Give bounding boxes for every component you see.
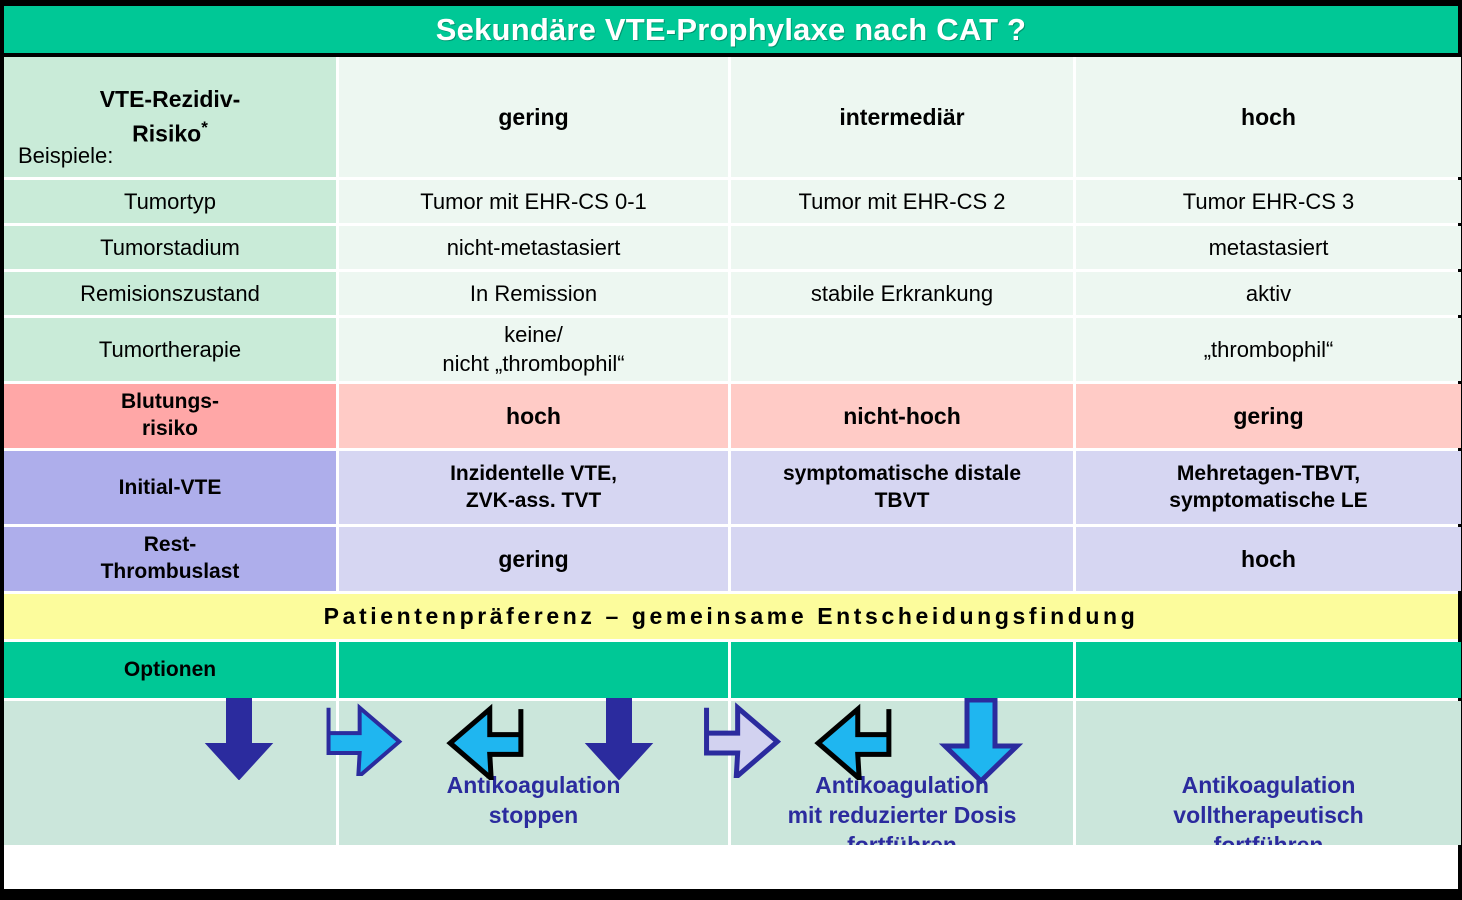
cell-tumortyp-gering: Tumor mit EHR-CS 0-1 bbox=[339, 180, 728, 223]
header-col-gering: gering bbox=[339, 57, 728, 177]
cell-tumortherapie-hoch: „thrombophil“ bbox=[1076, 318, 1461, 381]
cell-initial-vte-gering-line2: ZVK-ass. TVT bbox=[450, 488, 617, 515]
cell-blutungsrisiko-hoch: gering bbox=[1076, 384, 1461, 448]
cell-rest-thrombuslast-gering: gering bbox=[339, 527, 728, 591]
recommendation-intermediaer-line2: mit reduzierter Dosis bbox=[737, 801, 1067, 831]
table-row: Tumortyp Tumor mit EHR-CS 0-1 Tumor mit … bbox=[4, 180, 1458, 223]
recommendation-hoch-line1: Antikoagulation bbox=[1082, 771, 1455, 801]
row-label-optionen: Optionen bbox=[4, 642, 336, 698]
options-band-col1 bbox=[339, 642, 728, 698]
cell-tumorstadium-gering: nicht-metastasiert bbox=[339, 226, 728, 269]
bleeding-risk-row: Blutungs- risiko hoch nicht-hoch gering bbox=[4, 384, 1458, 448]
header-risk-label-line1: VTE-Rezidiv- bbox=[100, 83, 241, 116]
recommendation-gering-line1: Antikoagulation bbox=[345, 771, 722, 801]
recommendations-row: Antikoagulation stoppen Antikoagulation … bbox=[4, 701, 1458, 845]
recommendation-cell-hoch: Antikoagulation volltherapeutisch fortfü… bbox=[1076, 701, 1461, 845]
recommendation-hoch-line2: volltherapeutisch bbox=[1082, 801, 1455, 831]
cell-initial-vte-intermediaer-line2: TBVT bbox=[783, 488, 1021, 515]
cell-tumortherapie-gering-line1: keine/ bbox=[442, 321, 624, 349]
cell-initial-vte-gering: Inzidentelle VTE, ZVK-ass. TVT bbox=[339, 451, 728, 524]
row-label-rest-thrombuslast: Rest- Thrombuslast bbox=[4, 527, 336, 591]
cell-tumortherapie-intermediaer bbox=[731, 318, 1073, 381]
recommendation-cell-gering: Antikoagulation stoppen bbox=[339, 701, 728, 845]
table-row: Tumorstadium nicht-metastasiert metastas… bbox=[4, 226, 1458, 269]
cell-remisionszustand-gering: In Remission bbox=[339, 272, 728, 315]
table-row: Remisionszustand In Remission stabile Er… bbox=[4, 272, 1458, 315]
patient-preference-banner: Patientenpräferenz – gemeinsame Entschei… bbox=[4, 594, 1458, 639]
recommendation-gering-line2: stoppen bbox=[345, 801, 722, 831]
residual-thrombus-row: Rest- Thrombuslast gering hoch bbox=[4, 527, 1458, 591]
cell-initial-vte-intermediaer: symptomatische distale TBVT bbox=[731, 451, 1073, 524]
recommendation-intermediaer-line1: Antikoagulation bbox=[737, 771, 1067, 801]
cell-tumortyp-hoch: Tumor EHR-CS 3 bbox=[1076, 180, 1461, 223]
row-label-blutungsrisiko-line1: Blutungs- bbox=[121, 389, 219, 416]
options-band-col3 bbox=[1076, 642, 1461, 698]
header-risk-label-cell: VTE-Rezidiv- Risiko* Beispiele: bbox=[4, 57, 336, 177]
row-label-tumortyp: Tumortyp bbox=[4, 180, 336, 223]
slide-canvas: Sekundäre VTE-Prophylaxe nach CAT ? VTE-… bbox=[0, 0, 1462, 900]
row-label-rest-thrombuslast-line2: Thrombuslast bbox=[101, 559, 240, 586]
table-header-row: VTE-Rezidiv- Risiko* Beispiele: gering i… bbox=[4, 57, 1458, 177]
recommendation-empty-label-cell bbox=[4, 701, 336, 845]
cell-remisionszustand-hoch: aktiv bbox=[1076, 272, 1461, 315]
recommendation-intermediaer-line3: fortführen bbox=[737, 831, 1067, 845]
cell-initial-vte-hoch-line2: symptomatische LE bbox=[1169, 488, 1367, 515]
cell-remisionszustand-intermediaer: stabile Erkrankung bbox=[731, 272, 1073, 315]
cell-blutungsrisiko-intermediaer: nicht-hoch bbox=[731, 384, 1073, 448]
patient-preference-row: Patientenpräferenz – gemeinsame Entschei… bbox=[4, 594, 1458, 639]
row-label-blutungsrisiko-line2: risiko bbox=[121, 416, 219, 443]
cell-initial-vte-hoch-line1: Mehretagen-TBVT, bbox=[1169, 461, 1367, 488]
risk-matrix-table: VTE-Rezidiv- Risiko* Beispiele: gering i… bbox=[4, 57, 1458, 889]
row-label-rest-thrombuslast-line1: Rest- bbox=[101, 532, 240, 559]
cell-blutungsrisiko-gering: hoch bbox=[339, 384, 728, 448]
row-label-blutungsrisiko: Blutungs- risiko bbox=[4, 384, 336, 448]
cell-initial-vte-intermediaer-line1: symptomatische distale bbox=[783, 461, 1021, 488]
table-row: Tumortherapie keine/ nicht „thrombophil“… bbox=[4, 318, 1458, 381]
row-label-remisionszustand: Remisionszustand bbox=[4, 272, 336, 315]
header-risk-asterisk: * bbox=[201, 118, 208, 137]
row-label-tumorstadium: Tumorstadium bbox=[4, 226, 336, 269]
cell-tumorstadium-intermediaer bbox=[731, 226, 1073, 269]
row-label-tumortherapie: Tumortherapie bbox=[4, 318, 336, 381]
header-risk-label-line2: Risiko bbox=[132, 121, 201, 147]
examples-label: Beispiele: bbox=[18, 143, 113, 169]
options-band-col2 bbox=[731, 642, 1073, 698]
options-header-row: Optionen bbox=[4, 642, 1458, 698]
patient-preference-text: Patientenpräferenz – gemeinsame Entschei… bbox=[324, 603, 1139, 630]
cell-tumortherapie-gering-line2: nicht „thrombophil“ bbox=[442, 350, 624, 378]
cell-tumortyp-intermediaer: Tumor mit EHR-CS 2 bbox=[731, 180, 1073, 223]
slide-title-bar: Sekundäre VTE-Prophylaxe nach CAT ? bbox=[4, 6, 1458, 53]
cell-tumortherapie-gering: keine/ nicht „thrombophil“ bbox=[339, 318, 728, 381]
cell-tumorstadium-hoch: metastasiert bbox=[1076, 226, 1461, 269]
row-label-initial-vte: Initial-VTE bbox=[4, 451, 336, 524]
cell-initial-vte-gering-line1: Inzidentelle VTE, bbox=[450, 461, 617, 488]
cell-rest-thrombuslast-hoch: hoch bbox=[1076, 527, 1461, 591]
cell-rest-thrombuslast-intermediaer bbox=[731, 527, 1073, 591]
page-title: Sekundäre VTE-Prophylaxe nach CAT ? bbox=[436, 12, 1026, 48]
cell-initial-vte-hoch: Mehretagen-TBVT, symptomatische LE bbox=[1076, 451, 1461, 524]
header-col-intermediaer: intermediär bbox=[731, 57, 1073, 177]
recommendation-cell-intermediaer: Antikoagulation mit reduzierter Dosis fo… bbox=[731, 701, 1073, 845]
recommendation-hoch-line3: fortführen bbox=[1082, 831, 1455, 845]
header-col-hoch: hoch bbox=[1076, 57, 1461, 177]
initial-vte-row: Initial-VTE Inzidentelle VTE, ZVK-ass. T… bbox=[4, 451, 1458, 524]
